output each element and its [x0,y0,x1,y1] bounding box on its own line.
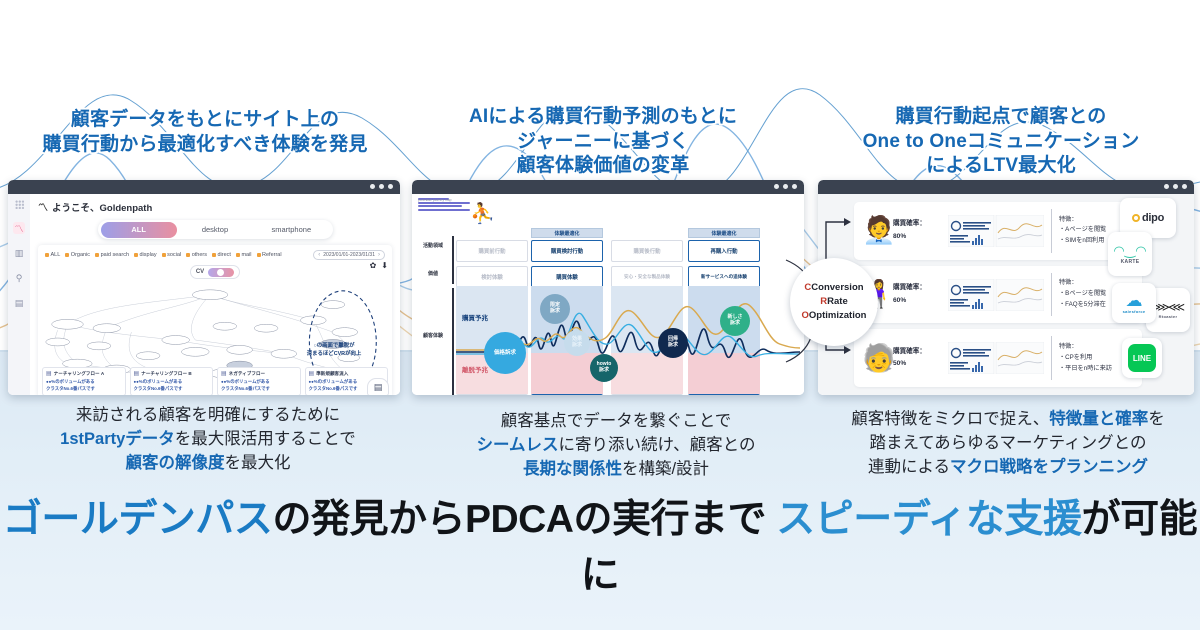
chart-icon[interactable]: ▥ [13,247,25,259]
bubble-howto[interactable]: howto訴求 [590,354,618,382]
filter-chip[interactable]: others [186,252,207,258]
legend-caption: purchase journey map [418,198,452,203]
bubble-effect[interactable]: 効果訴求 [564,330,590,356]
dashboard-body: 〽 ▥ ⚲ ▤ 〽 ようこそ、Goldenpath ALL desktop sm… [8,194,400,395]
chevron-left-icon[interactable]: ‹ [318,252,320,258]
welcome-title: 〽 ようこそ、Goldenpath [38,199,392,214]
graph-annotation-line2: 深まるほどCVRが向上 [298,351,370,358]
cv-toggle[interactable]: CV [190,265,240,279]
purchase-probability: 購買確率： 60% [893,282,941,307]
card-tools[interactable]: ✿ ⬇ [370,261,388,270]
window-titlebar [412,180,804,194]
cro-line2: RRate [820,295,847,309]
row-label-cx: 顧客体験 [416,332,450,339]
cv-toggle-row: CV [45,265,385,279]
filter-chip[interactable]: direct [212,252,231,258]
graph-annotation-line1: ○の画面で離脱が [298,343,370,350]
feature-item: ・Bページを閲覧 [1059,289,1106,300]
flow-icon: ▤ [134,370,140,377]
cell-activity-1[interactable]: 購買前行動 [456,240,528,262]
feature-label: 特徴： [1059,342,1112,353]
cell-activity-3[interactable]: 購買後行動 [611,240,683,262]
prob-value: 50% [893,358,941,371]
cv-label: CV [196,269,204,275]
grid-icon[interactable] [15,200,24,209]
segment-desktop[interactable]: desktop [177,225,253,234]
filter-chip[interactable]: social [162,252,182,258]
window-titlebar [8,180,400,194]
flow-card[interactable]: ▤ネガティブフロー ●●%のボリュームがあるクラスタNo.6番パスです [217,367,301,395]
heading-right-line3: によるLTV最大化 [812,154,1190,179]
poster-root: 顧客データをもとにサイト上の 購買行動から最適化すべき体験を発見 AIによる購買… [0,0,1200,630]
panel-headings: 顧客データをもとにサイト上の 購買行動から最適化すべき体験を発見 AIによる購買… [0,0,1200,185]
segment-all[interactable]: ALL [101,222,177,238]
purchase-probability: 購買確率： 80% [893,218,941,243]
browser-window-journey: purchase journey map ⛹ 活動領域 価値 顧客体験 提供サー… [412,180,804,395]
column-header-optimize-2: 体験最適化 [688,228,760,238]
heading-right-line1: 購買行動起点で顧客との [812,105,1190,130]
segment-row-list: 🧑‍💼 購買確率： 80% [854,202,1142,387]
chevron-right-icon[interactable]: › [378,252,380,258]
caption-center-line1: 顧客基点でデータを繋ぐことで [420,410,812,434]
feature-item: ・平日をn時に来訪 [1059,364,1112,375]
person-icon: ⛹ [470,204,495,224]
analytics-icon[interactable]: 〽 [13,222,25,234]
row-label-value: 価値 [416,270,450,277]
mini-analytics-thumb [948,342,1044,374]
journey-signal-chart: 購買予兆 離脱予兆 価格訴求 限定訴求 効果訴求 howto訴求 [456,286,800,394]
caption-center: 顧客基点でデータを繋ぐことで シームレスに寄り添い続け、顧客との 長期な関係性を… [420,410,812,482]
filter-chip[interactable]: paid search [95,252,129,258]
graph-annotation: ○の画面で離脱が 深まるほどCVRが向上 [298,343,370,358]
cell-service-4[interactable]: Web接客/MAの追客 [688,394,760,395]
welcome-text: ようこそ、Goldenpath [52,200,152,214]
robot-icon[interactable]: ▤ [367,378,389,395]
prob-label: 購買確率： [893,346,941,359]
cloud-icon: ☁ [1126,292,1143,309]
goldenpath-graph-card: ALL Organic paid search display social o… [38,245,392,395]
feature-list: 特徴： ・Aページを閲覧 ・SIMをn回利用 [1059,215,1106,248]
caption-left-line1: 来訪される顧客を明確にするために [8,404,408,428]
heading-center: AIによる購買行動予測のもとに ジャーニーに基づく 顧客体験価値の変革 [418,105,788,179]
heading-left: 顧客データをもとにサイト上の 購買行動から最適化すべき体験を発見 [20,108,390,157]
bubble-price[interactable]: 価格訴求 [484,332,526,374]
segment-row[interactable]: 🧑‍💼 購買確率： 80% [854,202,1142,260]
flow-card[interactable]: ▤ナーチャリングフロー B ●●%のボリュームがあるクラスタNo.6番パスです [130,367,214,395]
caption-center-line2: シームレスに寄り添い続け、顧客との [420,434,812,458]
journey-body: purchase journey map ⛹ 活動領域 価値 顧客体験 提供サー… [412,194,804,395]
cell-service-2[interactable]: 導線のオプティマイズ [531,394,603,395]
caption-center-line3: 長期な関係性を構築/設計 [420,458,812,482]
divider [1051,273,1052,317]
column-header-optimize-1: 体験最適化 [531,228,603,238]
dashboard-sidebar[interactable]: 〽 ▥ ⚲ ▤ [8,194,30,395]
flow-card-desc: ●●%のボリュームがあるクラスタNo.6番パスです [46,379,122,392]
channel-filter-list[interactable]: ALL Organic paid search display social o… [45,250,385,260]
logo-label: salesforce [1123,309,1146,314]
cell-service-1[interactable]: チャットの対話 [456,394,528,395]
heading-left-line1: 顧客データをもとにサイト上の [20,108,390,133]
row-label-activity: 活動領域 [416,242,450,249]
panel-captions: 来訪される顧客を明確にするために 1stPartyデータを最大限活用することで … [0,398,1200,483]
bottom-headline: ゴールデンパスの発見からPDCAの実行まで スピーディな支援が可能に [0,488,1200,600]
caption-right-line2: 踏まえてあらゆるマーケティングとの [818,432,1198,456]
gear-icon[interactable]: ✿ [370,261,377,270]
feature-item: ・CPを利用 [1059,353,1112,364]
person-senior-icon: 🧓 [862,345,886,372]
heading-right-line2: One to Oneコミュニケーション [812,130,1190,155]
cro-line1: CConversion [804,281,863,295]
heading-left-line2: 購買行動から最適化すべき体験を発見 [20,133,390,158]
feature-item: ・SIMをn回利用 [1059,236,1106,247]
caption-right-line1: 顧客特徴をミクロで捉え、特徴量と確率を [818,408,1198,432]
logo-salesforce[interactable]: ☁ salesforce [1112,283,1156,323]
bubble-novelty[interactable]: 新しさ訴求 [720,306,750,336]
dashboard-main: 〽 ようこそ、Goldenpath ALL desktop smartphone… [30,194,400,395]
window-controls[interactable] [370,184,393,189]
caption-left-line2: 1stPartyデータを最大限活用することで [8,428,408,452]
cell-value-1[interactable]: 検討体験 [456,266,528,288]
filter-chip[interactable]: display [134,252,157,258]
segment-row[interactable]: 🧍‍♀️ 購買確率： 60% [854,266,1142,324]
flow-card-title: 準新規顧客流入 [316,371,348,377]
segment-smartphone[interactable]: smartphone [253,225,329,234]
divider [1051,209,1052,253]
headline-part1: ゴールデンパス [3,498,273,541]
journey-grid: 活動領域 価値 顧客体験 提供サービス 体験最適化 体験最適化 購買前行動 [416,228,800,391]
feature-list: 特徴： ・CPを利用 ・平日をn時に来訪 [1059,342,1112,375]
logo-line[interactable]: LINE [1122,338,1162,378]
feature-list: 特徴： ・Bページを閲覧 ・FAQを5分滞在 [1059,278,1106,311]
karte-mark-icon: ◠‿◠ [1113,244,1146,257]
heading-right: 購買行動起点で顧客との One to Oneコミュニケーション によるLTV最大… [812,105,1190,179]
cell-activity-4[interactable]: 再購入行動 [688,240,760,262]
date-range-value: 2023/01/01-2023/01/31 [323,252,375,258]
flow-icon: ▤ [309,370,315,377]
flow-card-desc: ●●%のボリュームがあるクラスタNo.6番パスです [134,379,210,392]
flow-card-title: ナーチャリングフロー B [141,371,192,377]
caption-left: 来訪される顧客を明確にするために 1stPartyデータを最大限活用することで … [8,404,408,476]
prob-label: 購買確率： [893,218,941,231]
logo-label: Rtoaster [1159,314,1178,319]
window-titlebar [818,180,1194,194]
person-suit-icon: 🧑‍💼 [862,217,886,244]
mini-analytics-thumb [948,215,1044,247]
filter-chip[interactable]: ALL [45,252,60,258]
trend-icon: 〽 [38,199,48,214]
logo-label: dipo [1142,212,1164,224]
headline-part3: スピーディな支援 [776,498,1081,541]
cell-service-3[interactable]: 動画によるフォロー [611,394,683,395]
feature-label: 特徴： [1059,278,1106,289]
journey-row-labels: 活動領域 価値 顧客体験 提供サービス [416,228,450,391]
flow-card-title: ナーチャリングフロー A [54,371,105,377]
cro-circle: CConversion RRate OOptimization [790,258,878,346]
segment-row[interactable]: 🧓 購買確率： 50% [854,329,1142,387]
cell-activity-2[interactable]: 購買検討行動 [531,240,603,262]
caption-right: 顧客特徴をミクロで捉え、特徴量と確率を 踏まえてあらゆるマーケティングとの 連動… [818,408,1198,480]
caption-left-line3: 顧客の解像度を最大化 [8,452,408,476]
mini-analytics-thumb [948,279,1044,311]
heading-center-line3: 顧客体験価値の変革 [418,154,788,179]
prob-value: 80% [893,231,941,244]
flow-cards-row: ▤ナーチャリングフロー A ●●%のボリュームがあるクラスタNo.6番パスです … [42,367,388,395]
journey-matrix: purchase journey map ⛹ 活動領域 価値 顧客体験 提供サー… [412,194,804,395]
filter-chip[interactable]: Organic [65,252,90,258]
feature-label: 特徴： [1059,215,1106,226]
flow-card-title: ネガティブフロー [229,371,265,377]
toggle-switch[interactable] [208,268,234,277]
cell-value-2[interactable]: 購買体験 [531,266,603,288]
flow-icon: ▤ [46,370,52,377]
flow-icon: ▤ [221,370,227,377]
prob-value: 60% [893,295,941,308]
cell-value-3[interactable]: 安心・安全な製品体験 [611,266,683,288]
heading-center-line2: ジャーニーに基づく [418,130,788,155]
line-mark-icon: LINE [1128,344,1156,372]
flow-card[interactable]: ▤ナーチャリングフロー A ●●%のボリュームがあるクラスタNo.6番パスです [42,367,126,395]
filter-chip[interactable]: mail [236,252,252,258]
dipo-mark-icon [1132,214,1140,222]
flow-card-desc: ●●%のボリュームがあるクラスタNo.6番パスです [221,379,297,392]
caption-right-line3: 連動によるマクロ戦略をプランニング [818,456,1198,480]
window-controls[interactable] [774,184,797,189]
headline-part2: の発見からPDCAの実行まで [272,498,776,541]
cell-value-4[interactable]: 新サービスへの追体験 [688,266,760,288]
logo-label: KARTE [1121,259,1140,265]
prob-label: 購買確率： [893,282,941,295]
rtoaster-mark-icon: ⋙⋘ [1153,301,1183,313]
journey-legend: purchase journey map [418,198,470,212]
heading-center-line1: AIによる購買行動予測のもとに [418,105,788,130]
cro-line3: OOptimization [802,309,867,323]
bubble-limited[interactable]: 限定訴求 [540,294,570,324]
feature-item: ・FAQを5分滞在 [1059,300,1106,311]
filter-chip[interactable]: Referral [257,252,282,258]
device-segment-control[interactable]: ALL desktop smartphone [98,220,333,239]
feature-item: ・Aページを閲覧 [1059,225,1106,236]
download-icon[interactable]: ⬇ [381,261,388,270]
pin-icon[interactable]: ⚲ [13,272,25,284]
book-icon[interactable]: ▤ [13,297,25,309]
journey-columns: 体験最適化 体験最適化 購買前行動 購買検討行動 購買後行動 再購入行動 検討体… [456,228,800,391]
purchase-probability: 購買確率： 50% [893,346,941,371]
logo-karte[interactable]: ◠‿◠ KARTE [1108,232,1152,276]
bubble-return[interactable]: 回帰訴求 [658,328,688,358]
window-controls[interactable] [1164,184,1187,189]
date-range-picker[interactable]: ‹ 2023/01/01-2023/01/31 › [313,250,385,260]
divider [1051,336,1052,380]
browser-window-dashboard: 〽 ▥ ⚲ ▤ 〽 ようこそ、Goldenpath ALL desktop sm… [8,180,400,395]
